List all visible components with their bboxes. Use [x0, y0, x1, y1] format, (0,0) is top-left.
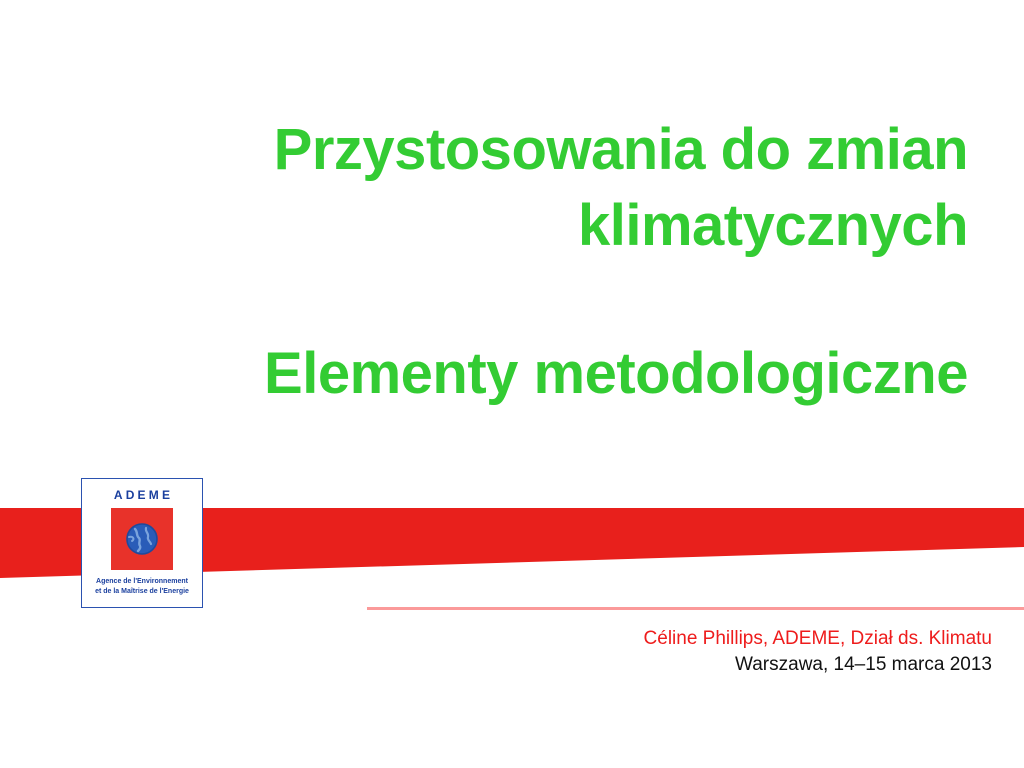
title-line-2: klimatycznych	[60, 188, 968, 264]
logo-red-square	[111, 508, 173, 570]
ademe-tagline: Agence de l'Environnement et de la Maîtr…	[86, 577, 198, 597]
separator-rule	[367, 607, 1024, 610]
title-spacer	[60, 264, 968, 336]
ademe-tagline-line-2: et de la Maîtrise de l'Energie	[86, 587, 198, 597]
presentation-slide: Przystosowania do zmian klimatycznych El…	[0, 0, 1024, 768]
title-line-3: Elementy metodologiczne	[60, 336, 968, 412]
globe-icon	[125, 522, 159, 556]
ademe-logo: ADEME Agence de l'Environnement et de la…	[81, 478, 203, 608]
ademe-wordmark: ADEME	[114, 488, 173, 502]
ademe-tagline-line-1: Agence de l'Environnement	[86, 577, 198, 587]
slide-title: Przystosowania do zmian klimatycznych El…	[60, 112, 968, 412]
title-line-1: Przystosowania do zmian	[60, 112, 968, 188]
credit-place-date: Warszawa, 14–15 marca 2013	[400, 652, 992, 678]
credit-author: Céline Phillips, ADEME, Dział ds. Klimat…	[400, 626, 992, 652]
slide-credits: Céline Phillips, ADEME, Dział ds. Klimat…	[400, 626, 992, 678]
